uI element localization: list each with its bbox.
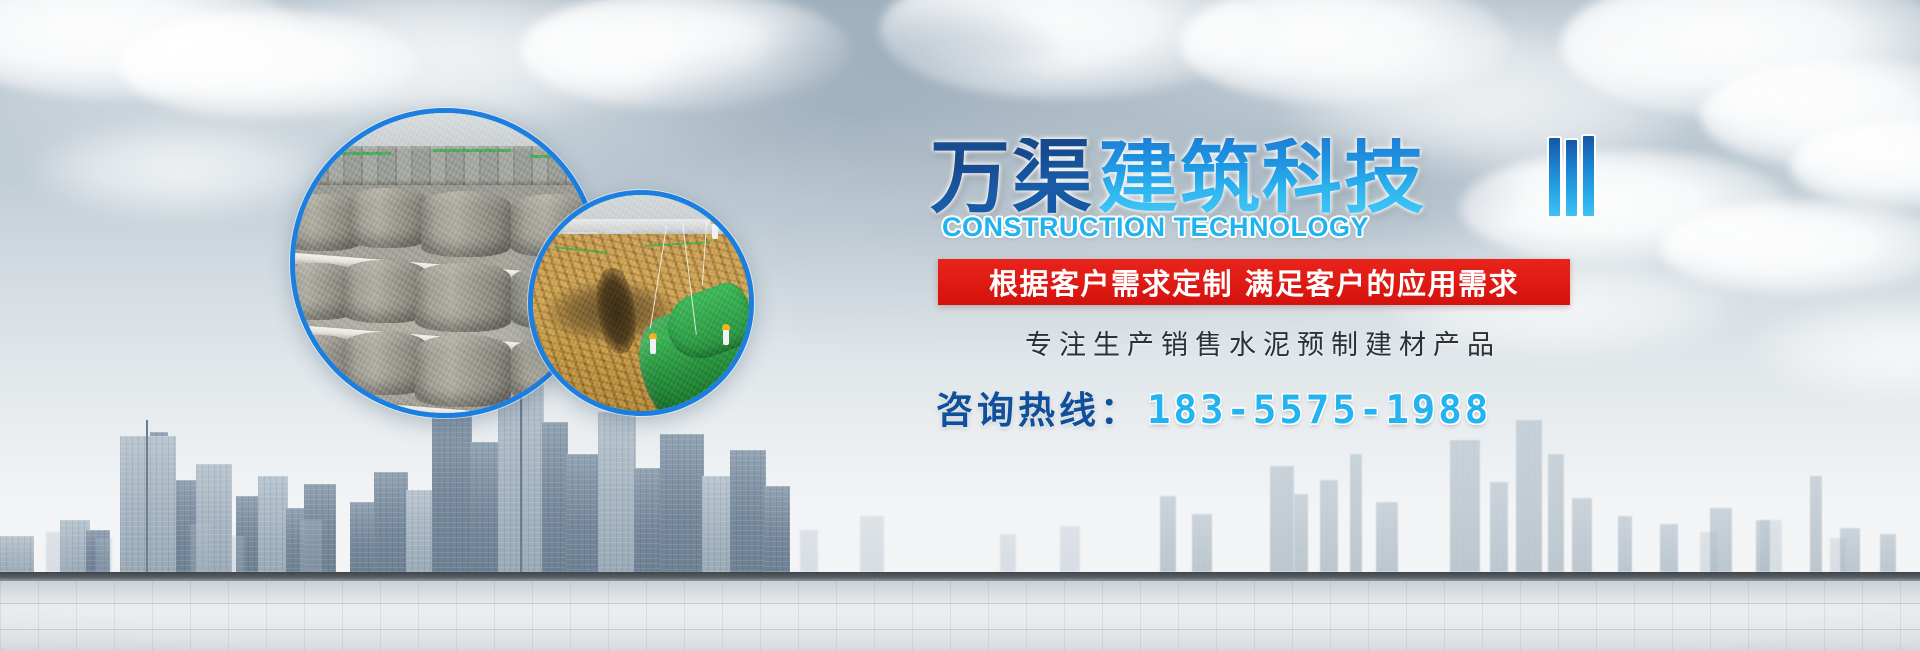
promotional-banner: 万渠 建筑科技 CONSTRUCTION TECHNOLOGY 根据客户需求定制… [0, 0, 1920, 650]
brand-name-primary: 万渠 [930, 138, 1094, 218]
brand-title-row: 万渠 建筑科技 [930, 118, 1590, 218]
reflective-ground [0, 581, 1920, 650]
hotline-label: 咨询热线： [936, 380, 1141, 434]
photo-septic-tank-installation [528, 190, 754, 416]
brand-name-secondary: 建筑科技 [1098, 138, 1426, 218]
hotline-row: 咨询热线： 183-5575-1988 [936, 380, 1590, 434]
brand-subtitle-english: CONSTRUCTION TECHNOLOGY [942, 212, 1590, 243]
horizon-line [0, 572, 1920, 581]
ground-reflection [0, 581, 1920, 650]
highlight-banner: 根据客户需求定制 满足客户的应用需求 [938, 259, 1570, 305]
hotline-number[interactable]: 183-5575-1988 [1147, 388, 1491, 433]
decorative-bars-icon [1549, 134, 1594, 216]
banner-text-content: 万渠 建筑科技 CONSTRUCTION TECHNOLOGY 根据客户需求定制… [930, 118, 1590, 434]
highlight-banner-text: 根据客户需求定制 满足客户的应用需求 [989, 261, 1519, 303]
city-skyline-distant [0, 477, 1920, 572]
company-tagline: 专注生产销售水泥预制建材产品 [938, 323, 1588, 362]
